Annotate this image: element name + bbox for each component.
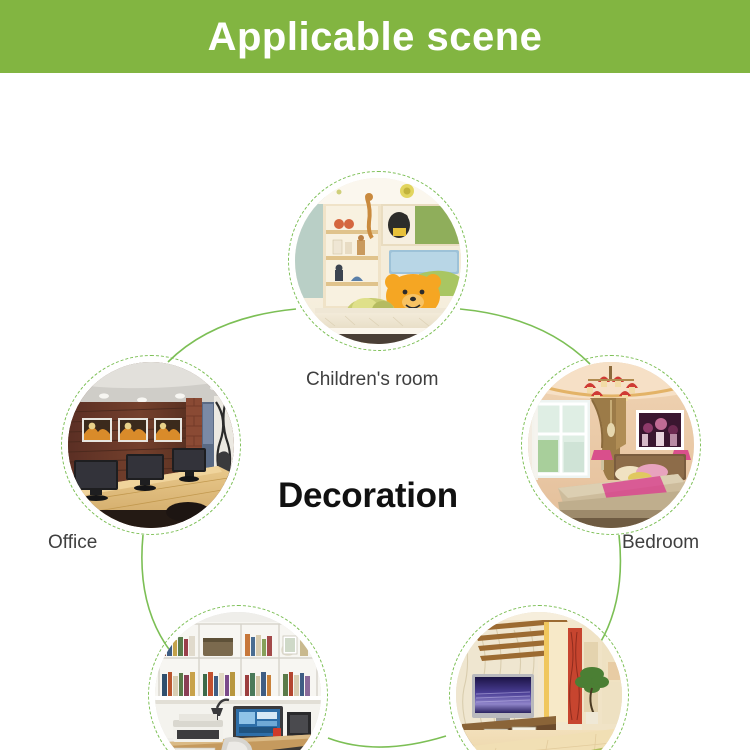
- node-office[interactable]: [61, 355, 241, 535]
- office-ring: [61, 355, 241, 535]
- center-title: Decoration: [278, 476, 458, 516]
- header-banner: Applicable scene: [0, 0, 750, 73]
- page-title: Applicable scene: [208, 17, 543, 57]
- diagram-stage: Children's room: [0, 73, 750, 750]
- children-room-ring: [288, 171, 468, 351]
- node-label-children-room: Children's room: [306, 369, 438, 391]
- applicable-scene-infographic: Applicable scene: [0, 0, 750, 750]
- bedroom-ring: [521, 355, 701, 535]
- node-label-office: Office: [48, 532, 97, 554]
- node-bedroom[interactable]: [521, 355, 701, 535]
- node-children-room[interactable]: [288, 171, 468, 351]
- node-label-bedroom: Bedroom: [622, 532, 699, 554]
